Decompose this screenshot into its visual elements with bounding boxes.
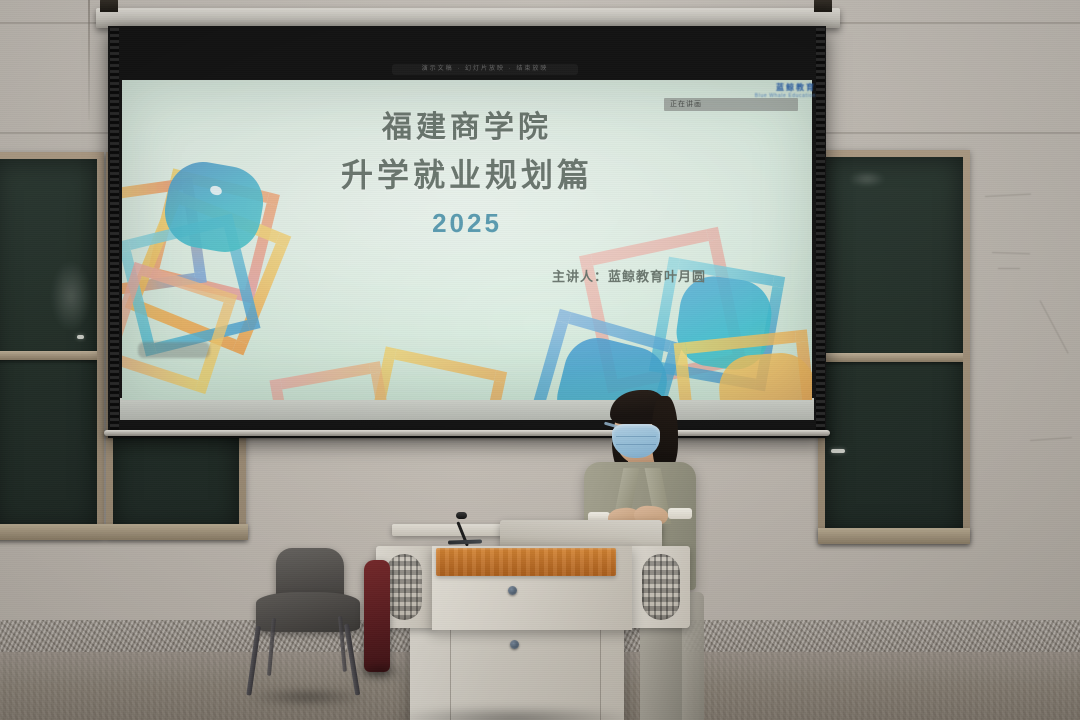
- deco-ring-11: [269, 361, 398, 400]
- screen-bracket-right: [814, 0, 832, 12]
- podium-monitor[interactable]: [500, 520, 662, 548]
- presentation-toolbar-overlay[interactable]: 演示文稿 · 幻灯片放映 · 结束放映: [392, 64, 578, 75]
- chalk-piece: [77, 335, 84, 339]
- podium-lock-lower[interactable]: [510, 640, 519, 649]
- screen-edge-right: [816, 28, 825, 432]
- bag-floor-shadow: [356, 664, 404, 680]
- microphone-head[interactable]: [456, 512, 467, 519]
- screen-fabric-bottom: [120, 398, 814, 420]
- slide-year: 2025: [122, 208, 812, 239]
- blackboard-bottom-rail-right: [818, 528, 970, 544]
- screen-edge-left: [110, 28, 119, 432]
- blackboard-right-surface: [825, 157, 963, 535]
- slide-artifact-pill: [138, 342, 210, 358]
- slide-speaker-line: 主讲人：蓝鲸教育叶月圆: [552, 266, 706, 285]
- slide-title-line2: 升学就业规划篇: [122, 150, 812, 196]
- chair-floor-shadow: [248, 688, 368, 706]
- screen-weight-bar[interactable]: [104, 430, 830, 436]
- wall-pencil-mark-c: [998, 268, 1020, 269]
- speaker-grille-left: [386, 554, 422, 620]
- blackboard-left-surface: [0, 159, 97, 531]
- blackboard-right: [818, 150, 970, 542]
- chalk-smudge-right: [849, 171, 885, 187]
- lecture-hall-scene: 演示文稿 · 幻灯片放映 · 结束放映 福建商学院 升学就业规划篇 2025: [0, 0, 1080, 720]
- podium-base-seam-left: [450, 630, 451, 720]
- projector-screen-housing[interactable]: [96, 8, 840, 28]
- blackboard-left-ledge: [0, 351, 97, 360]
- slide-status-badge: 正在讲画: [664, 98, 798, 111]
- wall-stain-c: [990, 420, 1070, 470]
- blackboard-bottom-rail-left: [0, 524, 248, 540]
- projected-slide: 福建商学院 升学就业规划篇 2025 主讲人：蓝鲸教育叶月圆 正在讲画: [122, 80, 812, 400]
- red-bag[interactable]: [364, 560, 390, 672]
- wall-seam-vertical: [88, 0, 90, 120]
- brand-logo: 蓝鲸教育 Blue Whale Education: [720, 82, 816, 99]
- presenter-cuff-right: [668, 508, 692, 519]
- blackboard-right-ledge: [825, 353, 963, 362]
- chalk-piece-right: [831, 449, 845, 453]
- chalk-smudge: [51, 261, 91, 331]
- podium-base-seam-right: [600, 630, 601, 720]
- mask-pleat-1: [616, 436, 656, 437]
- blackboard-left: [0, 152, 104, 538]
- screen-bracket-left: [100, 0, 118, 12]
- mask-pleat-2: [616, 444, 656, 445]
- podium-lock-upper[interactable]: [508, 586, 517, 595]
- speaker-grille-right: [642, 554, 680, 620]
- wall-stain-a: [975, 190, 1045, 250]
- brand-logo-cn: 蓝鲸教育: [720, 82, 816, 93]
- podium-wood-panel: [436, 548, 616, 576]
- wall-stain-b: [1000, 290, 1060, 360]
- brand-logo-en: Blue Whale Education: [720, 93, 816, 99]
